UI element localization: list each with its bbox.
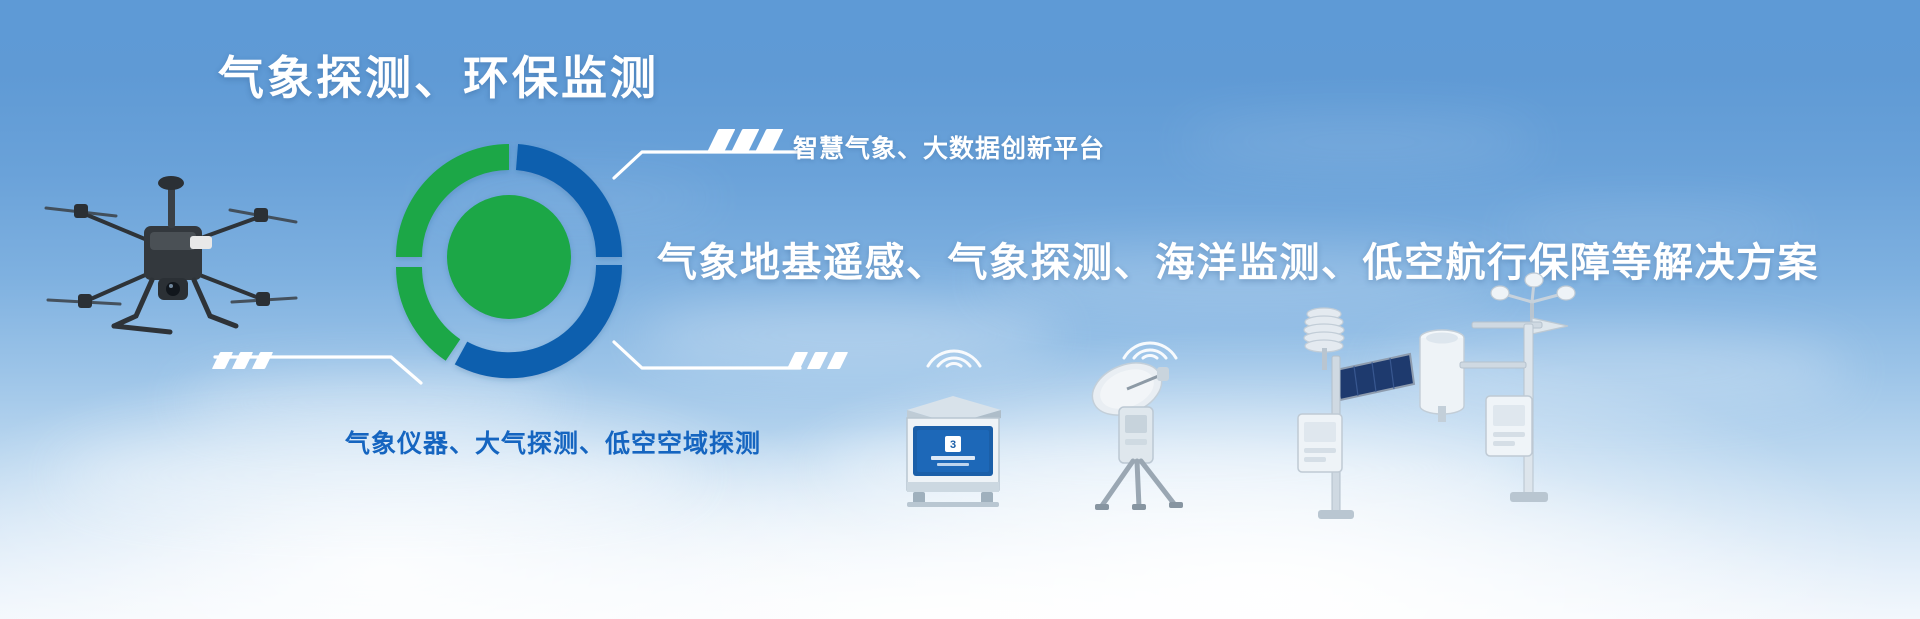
connector-line-bottom-left — [213, 355, 423, 385]
callout-text-bottom: 气象仪器、大气探测、低空空域探测 — [345, 424, 761, 460]
anemometer-weather-station-icon — [1412, 278, 1612, 528]
solar-weather-station-icon — [1278, 296, 1418, 526]
slash-marks-icon-bottom-right — [791, 352, 844, 369]
signal-waves-icon-left — [918, 318, 990, 370]
connector-line-top — [612, 150, 802, 180]
connector-line-bottom-right — [612, 340, 802, 370]
slash-marks-icon-top — [713, 129, 778, 151]
weather-detection-banner: 气象探测、环保监测 — [0, 0, 1920, 619]
drone-icon — [40, 150, 300, 350]
slash-marks-icon-bottom-left — [216, 352, 269, 369]
cloud-wisp — [1180, 120, 1540, 164]
banner-headline: 气象探测、环保监测 — [218, 50, 659, 108]
svg-text:3: 3 — [950, 439, 956, 451]
cloud-wisp — [640, 300, 1060, 370]
donut-ring-graphic — [393, 141, 625, 373]
callout-text-main: 气象地基遥感、气象探测、海洋监测、低空航行保障等解决方案 — [657, 230, 1819, 288]
lidar-cabinet-icon: 3 — [893, 388, 1013, 510]
callout-text-top: 智慧气象、大数据创新平台 — [793, 129, 1105, 165]
satellite-dish-icon — [1075, 355, 1205, 515]
